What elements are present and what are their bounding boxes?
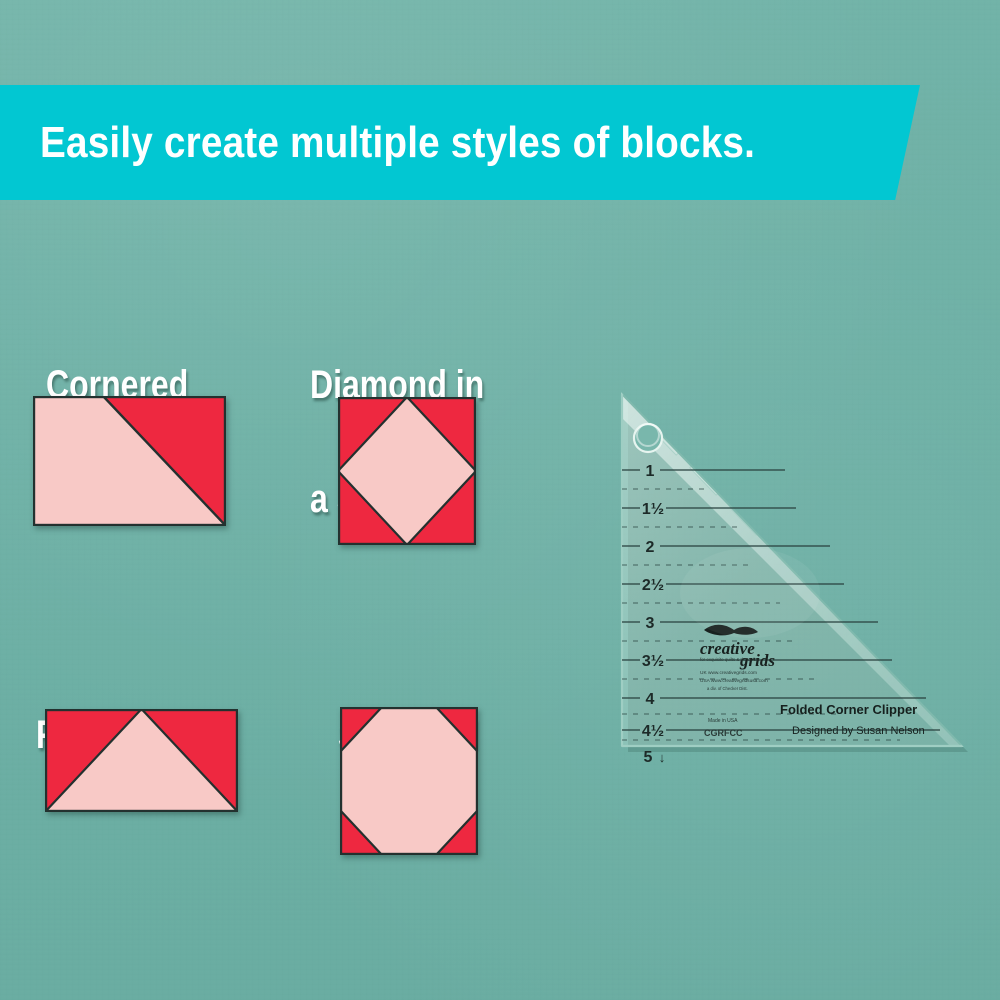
ruler-mark-5: 5 <box>644 749 653 766</box>
image-canvas: Easily create multiple styles of blocks.… <box>0 0 1000 1000</box>
ruler-mark-2: 2 <box>646 539 655 556</box>
brand-url-usa: USA www.creativegridsusa.com <box>700 678 768 684</box>
ruler-mark-1: 1 <box>646 463 655 480</box>
ruler-mark-3: 3 <box>646 615 655 632</box>
headline-banner: Easily create multiple styles of blocks. <box>0 85 920 200</box>
folded-corner-clipper-ruler: 1 1½ 2 2½ 3 3½ 4 4½ 5 ↓ creative grids f… <box>600 378 980 768</box>
ruler-mark-4-5: 4½ <box>642 723 664 740</box>
ruler-designer-credit: Designed by Susan Nelson <box>792 725 925 737</box>
brand-fineprint: a div. of Checker Dist. <box>707 686 748 691</box>
headline-text: Easily create multiple styles of blocks. <box>40 118 755 168</box>
quilt-block-cornered-rectangles <box>33 396 226 526</box>
ruler-mark-4: 4 <box>646 691 655 708</box>
ruler-mark-2-5: 2½ <box>642 577 664 594</box>
quilt-block-flying-geese <box>45 709 238 812</box>
brand-url-uk: UK www.creativegrids.com <box>700 670 757 676</box>
ruler-part-number: CGRFCC <box>704 728 743 738</box>
ruler-mark-1-5: 1½ <box>642 501 664 518</box>
ruler-product-name: Folded Corner Clipper <box>780 702 917 717</box>
quilt-block-diamond-in-a-square <box>338 397 476 545</box>
ruler-mark-3-5: 3½ <box>642 653 664 670</box>
ruler-mark-5-arrow-icon: ↓ <box>659 750 666 765</box>
brand-tagline: for exquisite quilts & the quilter <box>700 657 760 662</box>
quilt-block-snowball <box>340 707 478 855</box>
ruler-made-in: Made in USA <box>708 718 738 724</box>
